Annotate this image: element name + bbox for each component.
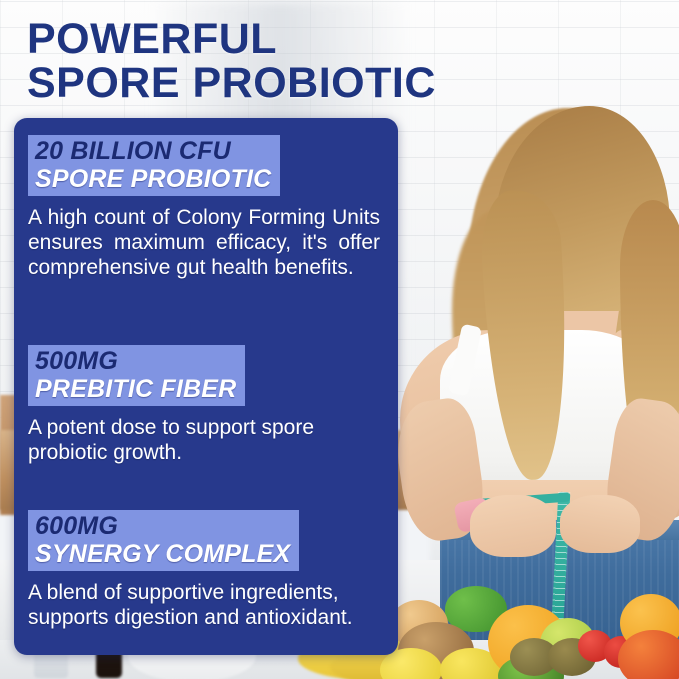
benefit-heading-highlight: 600MG SYNERGY COMPLEX (28, 510, 299, 571)
benefit-heading-highlight: 500MG PREBITIC FIBER (28, 345, 245, 406)
benefit-amount: 600MG (35, 512, 290, 540)
headline-line-1: POWERFUL (27, 17, 587, 61)
benefit-block-prebiotic-fiber: 500MG PREBITIC FIBER A potent dose to su… (28, 345, 384, 465)
benefit-block-synergy-complex: 600MG SYNERGY COMPLEX A blend of support… (28, 510, 384, 630)
benefit-name: PREBITIC FIBER (35, 375, 236, 403)
headline-line-2: SPORE PROBIOTIC (27, 61, 587, 105)
benefit-description: A high count of Colony Forming Units ens… (28, 205, 380, 280)
benefit-amount: 500MG (35, 347, 236, 375)
benefit-description: A potent dose to support spore probiotic… (28, 415, 348, 465)
benefit-block-spore-probiotic: 20 BILLION CFU SPORE PROBIOTIC A high co… (28, 135, 384, 280)
benefit-name: SYNERGY COMPLEX (35, 540, 290, 568)
benefit-amount: 20 BILLION CFU (35, 137, 271, 165)
product-infographic: POWERFUL SPORE PROBIOTIC 20 BILLION CFU … (0, 0, 679, 679)
page-title: POWERFUL SPORE PROBIOTIC (27, 17, 587, 105)
benefit-heading-highlight: 20 BILLION CFU SPORE PROBIOTIC (28, 135, 280, 196)
benefits-panel: 20 BILLION CFU SPORE PROBIOTIC A high co… (14, 118, 398, 655)
benefit-description: A blend of supportive ingredients, suppo… (28, 580, 373, 630)
hand-left (470, 495, 556, 557)
hand-right (560, 495, 640, 553)
benefit-name: SPORE PROBIOTIC (35, 165, 271, 193)
